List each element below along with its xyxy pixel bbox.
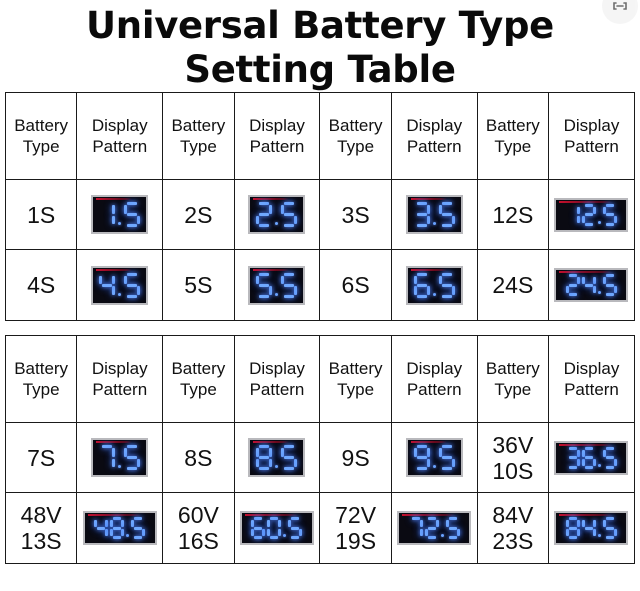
header-line1: Battery [6, 115, 76, 136]
led-display-module [248, 195, 305, 234]
header-cell-display-pattern: Display Pattern [234, 336, 320, 423]
display-pattern-cell [234, 180, 320, 250]
led-digits [256, 273, 297, 298]
header-line2: Type [163, 136, 233, 157]
header-cell-display-pattern: Display Pattern [391, 336, 477, 423]
battery-type-line1: 1S [6, 202, 76, 228]
seven-segment-digit [281, 445, 297, 470]
seven-segment-digit [256, 445, 272, 470]
header-cell-battery-type: Battery Type [320, 93, 391, 180]
led-display-module [397, 511, 471, 545]
seven-segment-digit [256, 273, 272, 298]
header-cell-battery-type: Battery Type [477, 336, 548, 423]
battery-type-line1: 36V [478, 432, 548, 458]
header-line1: Display [235, 115, 320, 136]
seven-segment-digit [414, 445, 430, 470]
seven-segment-digit [110, 517, 124, 539]
battery-type-line1: 24S [478, 272, 548, 298]
seven-segment-digit [99, 273, 115, 298]
header-line2: Pattern [549, 379, 634, 400]
seven-segment-digit [124, 273, 140, 298]
display-pattern-cell [391, 180, 477, 250]
header-line1: Display [549, 358, 634, 379]
header-cell-display-pattern: Display Pattern [77, 336, 163, 423]
seven-segment-digit [566, 447, 580, 469]
battery-type-line1: 9S [320, 445, 390, 471]
display-pattern-cell [548, 423, 634, 493]
battery-type-cell: 6S [320, 250, 391, 321]
battery-type-cell: 4S [6, 250, 77, 321]
led-decimal-point [598, 464, 601, 467]
display-pattern-holder [392, 438, 477, 477]
seven-segment-digit [94, 517, 108, 539]
display-pattern-cell [77, 180, 163, 250]
display-pattern-cell [391, 423, 477, 493]
led-digits [414, 445, 455, 470]
header-line1: Display [392, 115, 477, 136]
header-line1: Display [392, 358, 477, 379]
display-pattern-cell [77, 423, 163, 493]
table-row: 48V13S60V16S72V19S84V23S [6, 493, 635, 564]
battery-type-line2: 10S [478, 458, 548, 484]
display-pattern-cell [234, 493, 320, 564]
battery-type-cell: 2S [163, 180, 234, 250]
seven-segment-digit [267, 517, 281, 539]
table-lower-body: Battery Type Display Pattern Battery Typ… [6, 336, 635, 564]
led-display-module [248, 438, 305, 477]
header-line1: Battery [478, 358, 548, 379]
led-decimal-point [598, 221, 601, 224]
seven-segment-digit [603, 274, 617, 296]
page-title-line2: Setting Table [0, 48, 640, 92]
tables-container: Battery Type Display Pattern Battery Typ… [0, 92, 640, 564]
header-cell-display-pattern: Display Pattern [548, 93, 634, 180]
display-pattern-holder [549, 441, 634, 475]
led-digits [409, 517, 460, 539]
led-display-module [91, 266, 148, 305]
header-line1: Battery [163, 115, 233, 136]
led-display-module [406, 266, 463, 305]
led-display-module [240, 511, 314, 545]
header-cell-display-pattern: Display Pattern [234, 93, 320, 180]
display-pattern-cell [391, 493, 477, 564]
battery-type-cell: 24S [477, 250, 548, 321]
seven-segment-digit [131, 517, 145, 539]
display-pattern-holder [235, 438, 320, 477]
header-cell-battery-type: Battery Type [163, 336, 234, 423]
header-cell-battery-type: Battery Type [163, 93, 234, 180]
display-pattern-holder [392, 195, 477, 234]
battery-type-line1: 6S [320, 272, 390, 298]
led-digits [566, 274, 617, 296]
led-decimal-point [441, 534, 444, 537]
header-cell-battery-type: Battery Type [320, 336, 391, 423]
seven-segment-digit [603, 204, 617, 226]
seven-segment-digit [446, 517, 460, 539]
battery-type-line1: 7S [6, 445, 76, 471]
header-line2: Type [6, 379, 76, 400]
led-display-module [554, 511, 628, 545]
header-line2: Type [6, 136, 76, 157]
battery-type-line1: 2S [163, 202, 233, 228]
header-cell-battery-type: Battery Type [6, 93, 77, 180]
battery-type-line1: 5S [163, 272, 233, 298]
led-accent-line [96, 269, 132, 271]
led-decimal-point [118, 293, 121, 296]
display-pattern-cell [548, 493, 634, 564]
battery-type-line1: 84V [478, 502, 548, 528]
display-pattern-cell [234, 423, 320, 493]
header-line1: Display [549, 115, 634, 136]
header-line2: Pattern [549, 136, 634, 157]
seven-segment-digit [439, 445, 455, 470]
seven-segment-digit [582, 204, 596, 226]
display-pattern-holder [549, 198, 634, 232]
page-title: Universal Battery Type Setting Table [0, 0, 640, 92]
table-lower: Battery Type Display Pattern Battery Typ… [5, 335, 635, 564]
battery-type-line1: 8S [163, 445, 233, 471]
seven-segment-digit [99, 445, 115, 470]
header-line2: Type [320, 136, 390, 157]
header-cell-battery-type: Battery Type [477, 93, 548, 180]
led-digits [256, 445, 297, 470]
header-line2: Pattern [235, 379, 320, 400]
led-digits [99, 202, 140, 227]
circle-badge-icon [611, 0, 629, 15]
seven-segment-digit [425, 517, 439, 539]
led-accent-line [559, 271, 612, 273]
seven-segment-digit [603, 447, 617, 469]
table-row: 1S2S3S12S [6, 180, 635, 250]
display-pattern-cell [548, 180, 634, 250]
led-decimal-point [433, 465, 436, 468]
seven-segment-digit [256, 202, 272, 227]
battery-type-cell: 72V19S [320, 493, 391, 564]
display-pattern-holder [235, 266, 320, 305]
header-line1: Display [77, 358, 162, 379]
led-digits [566, 447, 617, 469]
seven-segment-digit [124, 202, 140, 227]
led-display-module [91, 195, 148, 234]
page-title-line1: Universal Battery Type [0, 4, 640, 48]
header-line2: Pattern [77, 379, 162, 400]
led-digits [256, 202, 297, 227]
led-accent-line [253, 441, 289, 443]
header-cell-display-pattern: Display Pattern [548, 336, 634, 423]
header-line1: Battery [320, 115, 390, 136]
battery-type-line2: 13S [6, 528, 76, 554]
table-upper: Battery Type Display Pattern Battery Typ… [5, 92, 635, 321]
seven-segment-digit [566, 204, 580, 226]
led-decimal-point [275, 222, 278, 225]
table-row: 7S8S9S36V10S [6, 423, 635, 493]
display-pattern-cell [77, 250, 163, 321]
display-pattern-holder [549, 511, 634, 545]
seven-segment-digit [124, 445, 140, 470]
battery-type-cell: 60V16S [163, 493, 234, 564]
battery-type-cell: 84V23S [477, 493, 548, 564]
battery-type-cell: 3S [320, 180, 391, 250]
display-pattern-holder [77, 195, 162, 234]
led-decimal-point [598, 534, 601, 537]
battery-type-line1: 4S [6, 272, 76, 298]
led-accent-line [411, 441, 447, 443]
battery-type-cell: 48V13S [6, 493, 77, 564]
table-upper-body: Battery Type Display Pattern Battery Typ… [6, 93, 635, 321]
led-digits [94, 517, 145, 539]
header-line2: Type [163, 379, 233, 400]
header-line1: Battery [320, 358, 390, 379]
display-pattern-cell [391, 250, 477, 321]
header-line2: Type [320, 379, 390, 400]
display-pattern-holder [77, 438, 162, 477]
battery-type-line2: 23S [478, 528, 548, 554]
led-decimal-point [598, 291, 601, 294]
battery-type-line1: 48V [6, 502, 76, 528]
led-accent-line [245, 514, 298, 516]
battery-type-cell: 5S [163, 250, 234, 321]
led-decimal-point [275, 293, 278, 296]
led-digits [566, 517, 617, 539]
display-pattern-holder [235, 195, 320, 234]
battery-type-line1: 12S [478, 202, 548, 228]
led-accent-line [253, 269, 289, 271]
led-digits [566, 204, 617, 226]
led-accent-line [411, 269, 447, 271]
table-separator [5, 321, 635, 335]
seven-segment-digit [582, 274, 596, 296]
table-row: 4S5S6S24S [6, 250, 635, 321]
led-accent-line [88, 514, 141, 516]
led-digits [414, 273, 455, 298]
led-decimal-point [126, 534, 129, 537]
header-row: Battery Type Display Pattern Battery Typ… [6, 93, 635, 180]
seven-segment-digit [582, 447, 596, 469]
led-decimal-point [118, 222, 121, 225]
seven-segment-digit [281, 273, 297, 298]
header-line1: Battery [478, 115, 548, 136]
seven-segment-digit [281, 202, 297, 227]
led-accent-line [96, 198, 132, 200]
header-line1: Battery [6, 358, 76, 379]
header-cell-battery-type: Battery Type [6, 336, 77, 423]
led-accent-line [96, 441, 132, 443]
battery-type-cell: 36V10S [477, 423, 548, 493]
led-decimal-point [433, 222, 436, 225]
header-line2: Type [478, 379, 548, 400]
seven-segment-digit [566, 274, 580, 296]
battery-type-cell: 7S [6, 423, 77, 493]
led-digits [251, 517, 302, 539]
display-pattern-holder [549, 268, 634, 302]
display-pattern-cell [234, 250, 320, 321]
seven-segment-digit [99, 202, 115, 227]
led-digits [414, 202, 455, 227]
led-display-module [91, 438, 148, 477]
header-row: Battery Type Display Pattern Battery Typ… [6, 336, 635, 423]
led-digits [99, 445, 140, 470]
display-pattern-cell [548, 250, 634, 321]
led-decimal-point [275, 465, 278, 468]
led-display-module [554, 198, 628, 232]
battery-type-line1: 60V [163, 502, 233, 528]
led-display-module [406, 195, 463, 234]
battery-type-cell: 9S [320, 423, 391, 493]
header-line2: Type [478, 136, 548, 157]
header-line2: Pattern [392, 136, 477, 157]
led-accent-line [253, 198, 289, 200]
seven-segment-digit [251, 517, 265, 539]
seven-segment-digit [439, 273, 455, 298]
battery-type-line1: 3S [320, 202, 390, 228]
battery-type-line2: 19S [320, 528, 390, 554]
led-display-module [248, 266, 305, 305]
header-cell-display-pattern: Display Pattern [77, 93, 163, 180]
led-decimal-point [433, 293, 436, 296]
header-line1: Display [235, 358, 320, 379]
header-line1: Battery [163, 358, 233, 379]
led-accent-line [559, 201, 612, 203]
battery-type-line2: 16S [163, 528, 233, 554]
seven-segment-digit [439, 202, 455, 227]
led-decimal-point [118, 465, 121, 468]
battery-type-cell: 8S [163, 423, 234, 493]
battery-type-cell: 12S [477, 180, 548, 250]
display-pattern-holder [235, 511, 320, 545]
header-line2: Pattern [392, 379, 477, 400]
led-display-module [406, 438, 463, 477]
header-cell-display-pattern: Display Pattern [391, 93, 477, 180]
seven-segment-digit [414, 202, 430, 227]
led-display-module [554, 268, 628, 302]
seven-segment-digit [603, 517, 617, 539]
led-digits [99, 273, 140, 298]
display-pattern-cell [77, 493, 163, 564]
seven-segment-digit [414, 273, 430, 298]
led-accent-line [402, 514, 455, 516]
display-pattern-holder [392, 511, 477, 545]
led-accent-line [411, 198, 447, 200]
header-line2: Pattern [235, 136, 320, 157]
seven-segment-digit [409, 517, 423, 539]
led-display-module [554, 441, 628, 475]
battery-type-line1: 72V [320, 502, 390, 528]
led-accent-line [559, 444, 612, 446]
display-pattern-holder [392, 266, 477, 305]
display-pattern-holder [77, 266, 162, 305]
battery-type-cell: 1S [6, 180, 77, 250]
led-decimal-point [283, 534, 286, 537]
led-accent-line [559, 514, 612, 516]
seven-segment-digit [288, 517, 302, 539]
led-display-module [83, 511, 157, 545]
seven-segment-digit [582, 517, 596, 539]
header-line2: Pattern [77, 136, 162, 157]
display-pattern-holder [77, 511, 162, 545]
header-line1: Display [77, 115, 162, 136]
seven-segment-digit [566, 517, 580, 539]
